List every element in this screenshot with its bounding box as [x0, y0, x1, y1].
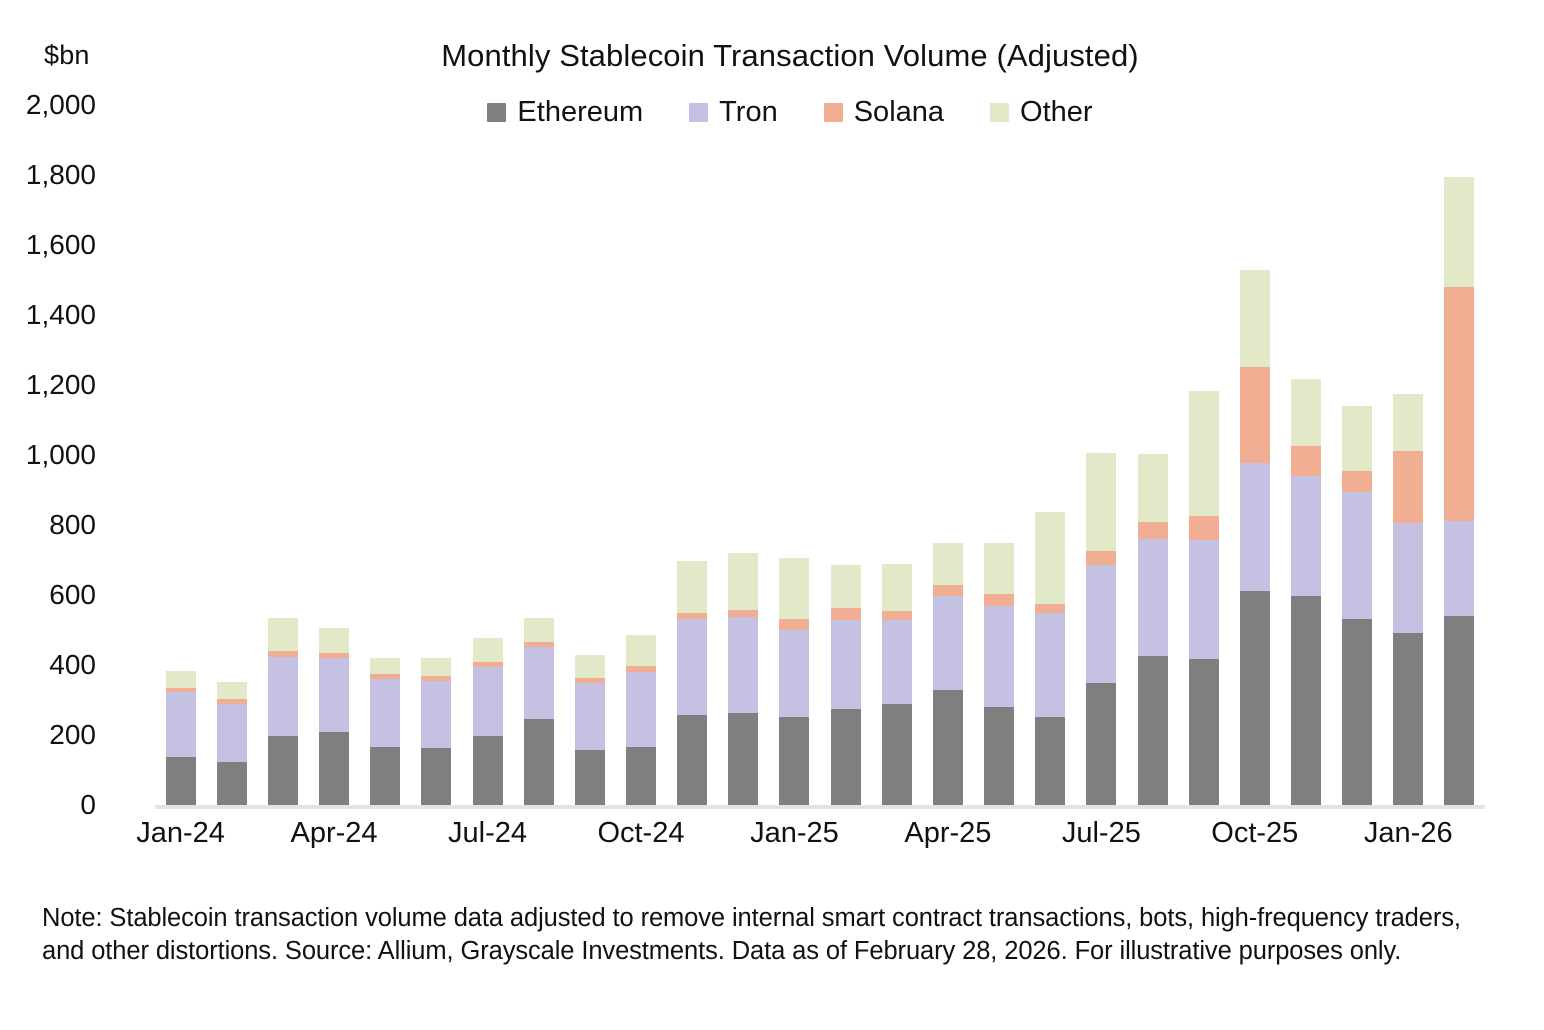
y-axis-tick-label: 1,200: [26, 369, 96, 401]
bar-segment-ethereum: [1035, 717, 1065, 805]
bar-segment-solana: [677, 613, 707, 620]
y-axis-tick-label: 600: [49, 579, 96, 611]
bar-segment-tron: [268, 657, 298, 737]
y-axis-tick-label: 0: [80, 789, 96, 821]
stacked-bar[interactable]: [1240, 270, 1270, 805]
bar-slot: [360, 105, 411, 805]
bar-segment-ethereum: [1393, 633, 1423, 805]
bar-segment-solana: [1086, 551, 1116, 565]
bar-slot: [1280, 105, 1331, 805]
bar-segment-ethereum: [779, 717, 809, 805]
stacked-bar[interactable]: [626, 635, 656, 805]
bar-segment-ethereum: [1138, 656, 1168, 805]
bar-segment-solana: [779, 619, 809, 630]
bar-segment-tron: [1240, 463, 1270, 590]
bar-slot: [155, 105, 206, 805]
stacked-bar[interactable]: [319, 628, 349, 805]
bar-segment-other: [524, 618, 554, 642]
bar-slot: [513, 105, 564, 805]
bar-segment-ethereum: [677, 715, 707, 805]
bar-segment-solana: [933, 585, 963, 596]
bar-slot: [974, 105, 1025, 805]
bar-segment-solana: [1291, 446, 1321, 476]
stacked-bar[interactable]: [728, 553, 758, 805]
bar-slot: [615, 105, 666, 805]
bar-segment-ethereum: [575, 750, 605, 805]
bar-segment-tron: [473, 667, 503, 736]
bar-slot: [1127, 105, 1178, 805]
stacked-bar[interactable]: [166, 671, 196, 805]
bar-segment-ethereum: [1086, 683, 1116, 805]
bar-segment-tron: [933, 596, 963, 689]
bar-segment-other: [1342, 406, 1372, 471]
bar-segment-other: [421, 658, 451, 676]
bar-slot: [769, 105, 820, 805]
bar-segment-tron: [524, 647, 554, 719]
stacked-bar[interactable]: [984, 543, 1014, 805]
bar-slot: [1434, 105, 1485, 805]
bar-slot: [564, 105, 615, 805]
bar-segment-ethereum: [1342, 619, 1372, 805]
bar-slot: [206, 105, 257, 805]
bar-segment-other: [779, 558, 809, 619]
stacked-bar[interactable]: [1086, 453, 1116, 805]
stacked-bar[interactable]: [575, 655, 605, 805]
bar-segment-ethereum: [728, 713, 758, 805]
bar-segment-other: [1240, 270, 1270, 368]
bar-segment-tron: [677, 619, 707, 715]
bar-segment-tron: [984, 606, 1014, 708]
bar-segment-solana: [1035, 604, 1065, 613]
chart-title: Monthly Stablecoin Transaction Volume (A…: [0, 38, 1544, 74]
bar-segment-tron: [1086, 565, 1116, 684]
stacked-bar[interactable]: [524, 618, 554, 805]
bar-segment-tron: [166, 692, 196, 757]
y-axis-tick-label: 1,600: [26, 229, 96, 261]
bar-segment-tron: [626, 672, 656, 748]
bar-segment-other: [933, 543, 963, 586]
bar-segment-other: [473, 638, 503, 661]
bar-segment-other: [1138, 454, 1168, 523]
bar-segment-solana: [1138, 522, 1168, 539]
stacked-bar[interactable]: [268, 618, 298, 805]
bar-segment-other: [1035, 512, 1065, 604]
bar-segment-other: [1086, 453, 1116, 551]
bar-segment-other: [1444, 177, 1474, 287]
stacked-bar[interactable]: [1393, 394, 1423, 805]
stacked-bar[interactable]: [831, 565, 861, 805]
bar-slot: [922, 105, 973, 805]
bar-segment-other: [166, 671, 196, 687]
y-axis-tick-label: 400: [49, 649, 96, 681]
bar-segment-other: [1291, 379, 1321, 446]
bar-slot: [667, 105, 718, 805]
bar-segment-tron: [1444, 521, 1474, 616]
stacked-bar[interactable]: [421, 658, 451, 805]
stacked-bar[interactable]: [473, 638, 503, 805]
bar-slot: [820, 105, 871, 805]
stacked-bar[interactable]: [677, 561, 707, 805]
bar-segment-other: [984, 543, 1014, 594]
y-axis-tick-label: 1,800: [26, 159, 96, 191]
bar-slot: [1332, 105, 1383, 805]
bar-segment-other: [217, 682, 247, 700]
bar-segment-other: [677, 561, 707, 613]
bar-segment-solana: [831, 608, 861, 620]
x-axis-tick-label: Apr-24: [291, 817, 378, 850]
bar-segment-other: [831, 565, 861, 608]
bar-segment-tron: [319, 658, 349, 732]
bar-segment-tron: [1138, 539, 1168, 656]
bar-segment-solana: [1189, 516, 1219, 540]
bar-slot: [1229, 105, 1280, 805]
bar-slot: [462, 105, 513, 805]
y-axis-tick-label: 1,000: [26, 439, 96, 471]
bar-segment-solana: [882, 611, 912, 620]
x-axis-tick-label: Jan-25: [750, 817, 839, 850]
bar-segment-solana: [1240, 367, 1270, 463]
bar-segment-tron: [831, 620, 861, 709]
bar-slot: [718, 105, 769, 805]
y-axis-tick-label: 800: [49, 509, 96, 541]
bar-segment-tron: [728, 617, 758, 713]
bar-segment-solana: [984, 594, 1014, 606]
bar-segment-other: [575, 655, 605, 679]
x-axis-tick-label: Oct-25: [1211, 817, 1298, 850]
bar-segment-tron: [1342, 492, 1372, 619]
stacked-bar[interactable]: [370, 658, 400, 805]
bar-segment-tron: [882, 620, 912, 704]
stacked-bar[interactable]: [1138, 454, 1168, 805]
bar-segment-other: [268, 618, 298, 651]
bar-segment-tron: [217, 704, 247, 762]
bar-segment-ethereum: [268, 736, 298, 805]
bar-segment-ethereum: [421, 748, 451, 805]
stacked-bar[interactable]: [779, 558, 809, 805]
bar-segment-ethereum: [984, 707, 1014, 805]
bar-segment-ethereum: [1189, 659, 1219, 805]
x-axis-tick-label: Oct-24: [597, 817, 684, 850]
bar-slot: [1076, 105, 1127, 805]
bar-segment-ethereum: [882, 704, 912, 805]
bar-segment-ethereum: [473, 736, 503, 805]
bar-segment-ethereum: [1444, 616, 1474, 805]
x-axis-tick-label: Jan-26: [1364, 817, 1453, 850]
bar-segment-ethereum: [831, 709, 861, 805]
bar-segment-ethereum: [1240, 591, 1270, 805]
bar-segment-other: [728, 553, 758, 610]
stacked-bar[interactable]: [1444, 177, 1474, 805]
stacked-bar[interactable]: [1291, 379, 1321, 805]
chart-footnote: Note: Stablecoin transaction volume data…: [42, 902, 1504, 968]
stacked-bar[interactable]: [1189, 391, 1219, 805]
bar-slot: [308, 105, 359, 805]
plot-area: 2,0001,8001,6001,4001,2001,0008006004002…: [155, 105, 1485, 805]
bar-slot: [1383, 105, 1434, 805]
y-axis-tick-label: 1,400: [26, 299, 96, 331]
x-axis-baseline: [155, 805, 1485, 809]
bar-segment-tron: [779, 630, 809, 717]
y-axis-tick-label: 2,000: [26, 89, 96, 121]
bar-segment-other: [882, 564, 912, 611]
stacked-bar[interactable]: [933, 543, 963, 805]
bar-segment-tron: [421, 681, 451, 748]
bar-segment-tron: [575, 683, 605, 751]
bar-segment-tron: [1189, 540, 1219, 659]
bar-segment-ethereum: [319, 732, 349, 805]
bar-segment-tron: [1393, 523, 1423, 633]
bar-segment-ethereum: [166, 757, 196, 805]
bar-segment-tron: [1035, 613, 1065, 717]
x-axis-tick-label: Jan-24: [136, 817, 225, 850]
bar-slot: [1178, 105, 1229, 805]
x-axis-tick-label: Apr-25: [904, 817, 991, 850]
stacked-bar[interactable]: [882, 564, 912, 805]
stacked-bar[interactable]: [217, 682, 247, 805]
bar-segment-solana: [1342, 471, 1372, 491]
bar-segment-other: [370, 658, 400, 674]
bar-segment-tron: [370, 679, 400, 747]
bar-slot: [1025, 105, 1076, 805]
bar-segment-ethereum: [933, 690, 963, 806]
bar-segment-ethereum: [217, 762, 247, 805]
x-axis-tick-label: Jul-24: [448, 817, 527, 850]
bar-slot: [411, 105, 462, 805]
bar-slot: [871, 105, 922, 805]
bar-segment-ethereum: [524, 719, 554, 805]
bar-segment-solana: [728, 610, 758, 617]
y-axis-tick-label: 200: [49, 719, 96, 751]
bar-segment-solana: [1393, 451, 1423, 523]
bar-segment-other: [1393, 394, 1423, 451]
bar-segment-other: [626, 635, 656, 667]
bar-slot: [257, 105, 308, 805]
chart-figure: $bn Monthly Stablecoin Transaction Volum…: [0, 0, 1544, 1030]
bar-series-container: [155, 105, 1485, 805]
x-axis-tick-label: Jul-25: [1062, 817, 1141, 850]
bar-segment-ethereum: [370, 747, 400, 805]
bar-segment-ethereum: [626, 747, 656, 805]
bar-segment-solana: [1444, 287, 1474, 521]
stacked-bar[interactable]: [1035, 512, 1065, 805]
bar-segment-other: [1189, 391, 1219, 516]
bar-segment-tron: [1291, 476, 1321, 596]
bar-segment-other: [319, 628, 349, 653]
bar-segment-ethereum: [1291, 596, 1321, 805]
stacked-bar[interactable]: [1342, 406, 1372, 805]
